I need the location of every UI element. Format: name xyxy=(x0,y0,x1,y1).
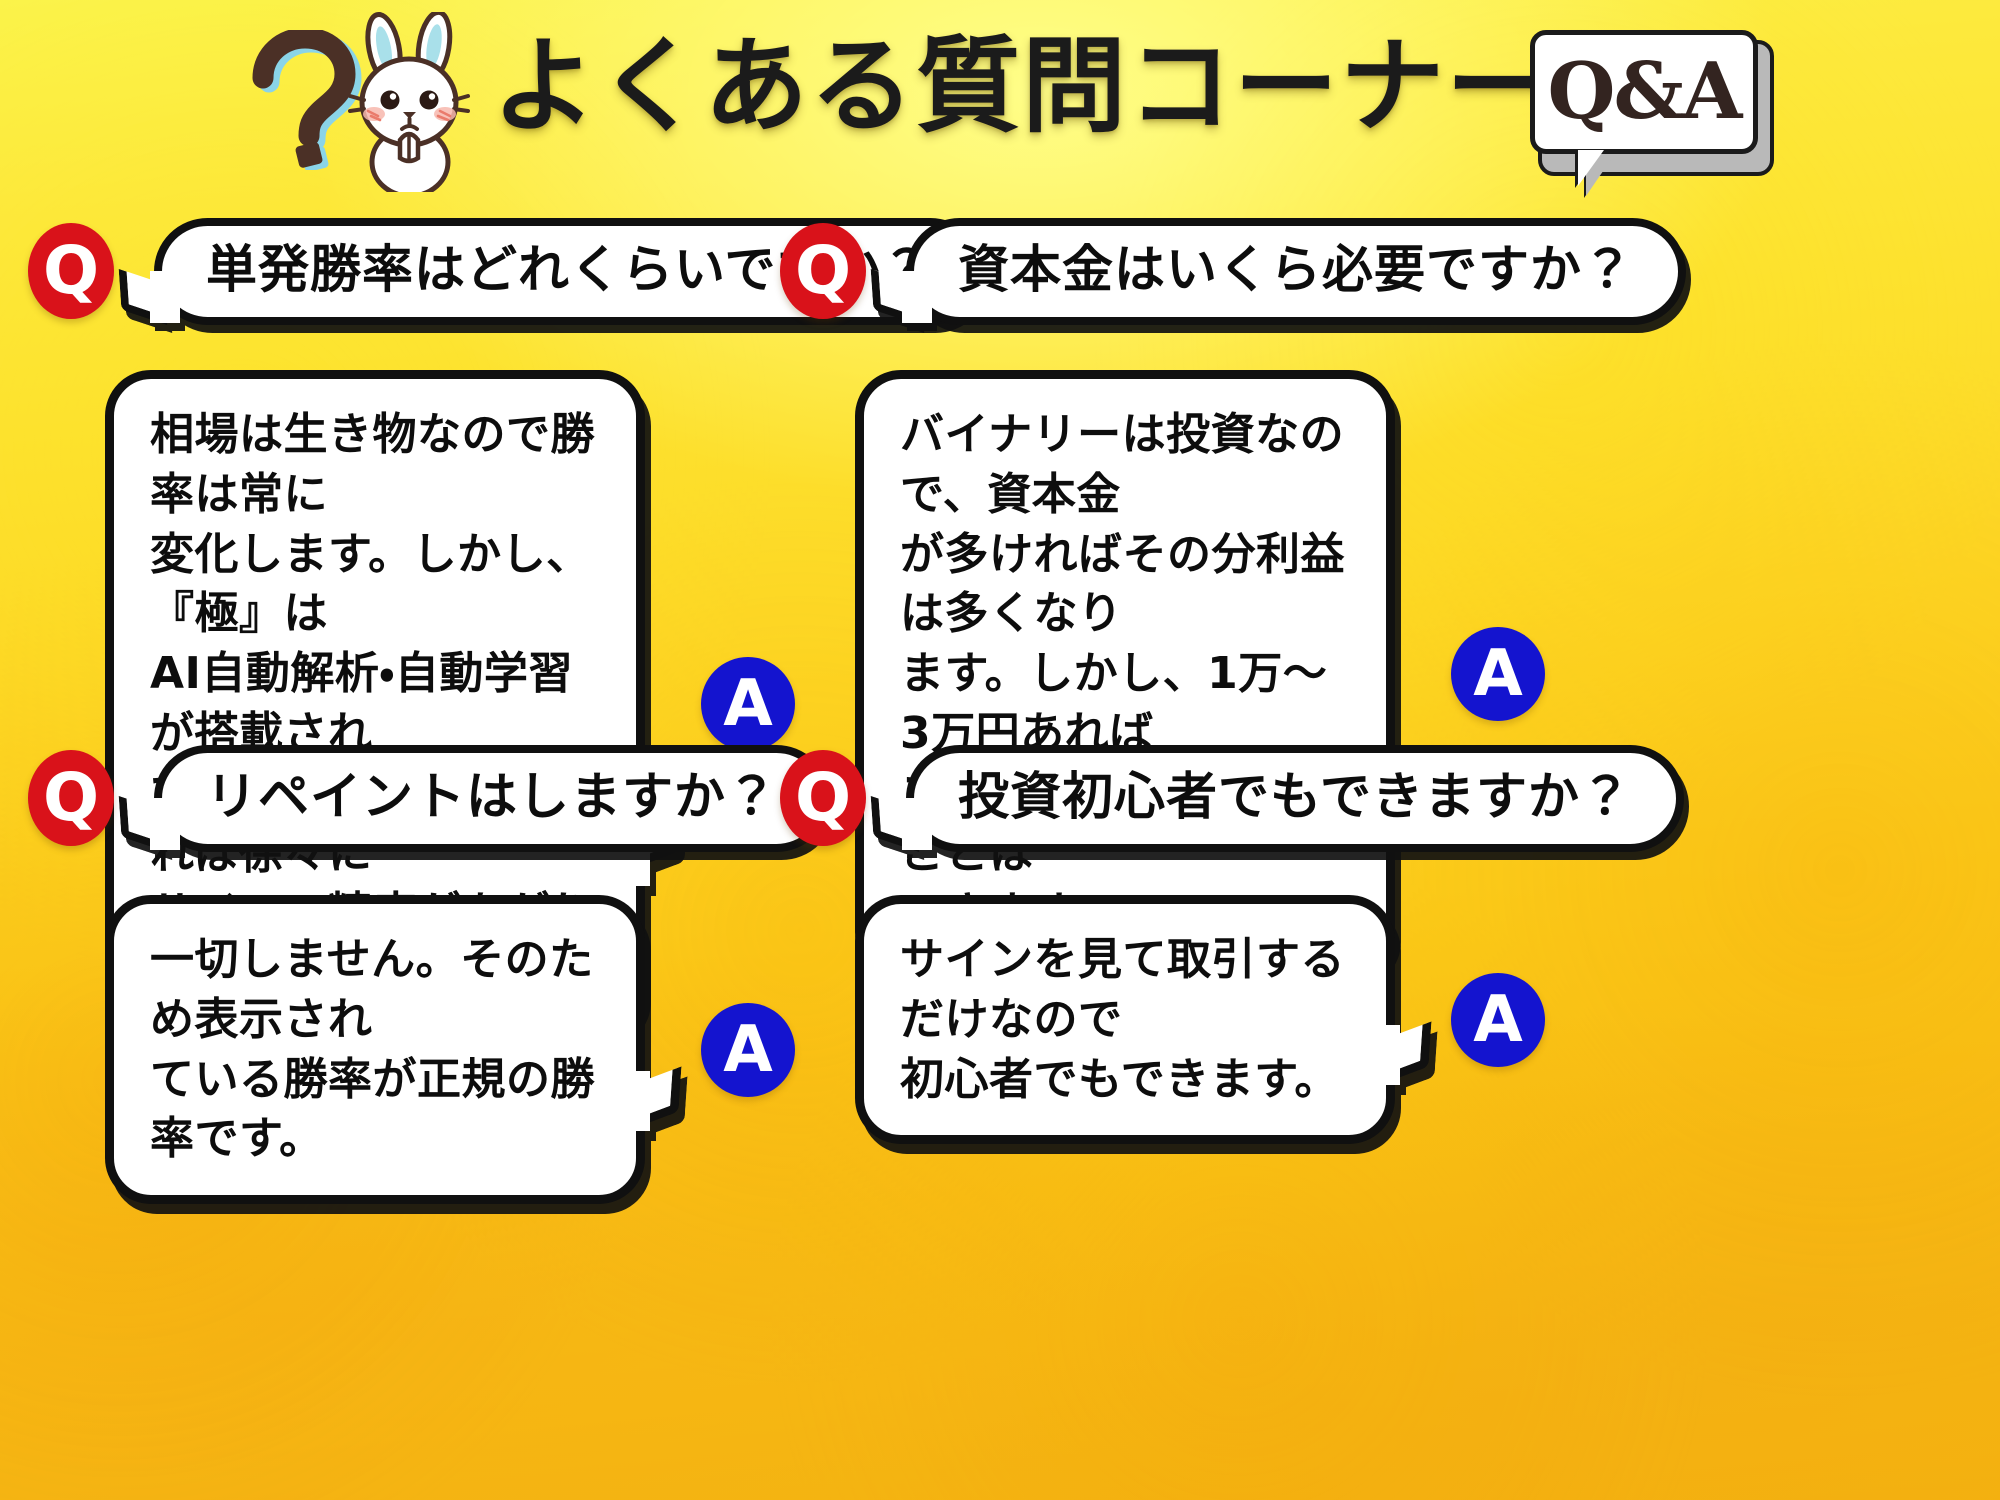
question-text-3: リペイントはしますか？ xyxy=(206,769,778,828)
q-badge-3: Q xyxy=(28,750,114,846)
q-badge-4: Q xyxy=(780,750,866,846)
q-badge-1: Q xyxy=(28,223,114,319)
page-header: よくある質問コーナー Q&A xyxy=(0,0,2000,200)
answer-row-2: バイナリーは投資なので、資本金 が多ければその分利益は多くなり ます。しかし、1… xyxy=(855,370,1545,978)
faq-poster: よくある質問コーナー Q&A Q 単発勝率はどれくらいですか？ 相場は生き物なの… xyxy=(0,0,2000,1500)
rabbit-mascot-icon xyxy=(330,12,490,192)
question-bubble-2[interactable]: 資本金はいくら必要ですか？ xyxy=(906,218,1686,325)
q-badge-2: Q xyxy=(780,223,866,319)
a-badge-3: A xyxy=(701,1003,795,1097)
question-bubble-3[interactable]: リペイントはしますか？ xyxy=(154,745,830,852)
answer-bubble-4[interactable]: サインを見て取引するだけなので 初心者でもできます。 xyxy=(855,895,1395,1144)
qa-badge-label: Q&A xyxy=(1548,53,1741,131)
question-row-3: Q リペイントはしますか？ xyxy=(28,745,830,852)
a-badge-2: A xyxy=(1451,627,1545,721)
answer-bubble-3[interactable]: 一切しません。そのため表示され ている勝率が正規の勝率です。 xyxy=(105,895,645,1204)
qa-badge-tail xyxy=(1578,150,1604,186)
question-bubble-4[interactable]: 投資初心者でもできますか？ xyxy=(906,745,1684,852)
question-text-2: 資本金はいくら必要ですか？ xyxy=(958,242,1634,301)
question-row-4: Q 投資初心者でもできますか？ xyxy=(780,745,1684,852)
answer-text-2: バイナリーは投資なので、資本金 が多ければその分利益は多くなり ます。しかし、1… xyxy=(900,409,1345,939)
qa-badge: Q&A xyxy=(1530,30,1766,170)
answer-text-4: サインを見て取引するだけなので 初心者でもできます。 xyxy=(900,934,1345,1105)
answer-row-4: サインを見て取引するだけなので 初心者でもできます。 A xyxy=(855,895,1545,1144)
question-text-4: 投資初心者でもできますか？ xyxy=(958,769,1632,828)
a-badge-4: A xyxy=(1451,973,1545,1067)
a-badge-1: A xyxy=(701,657,795,751)
answer-text-3: 一切しません。そのため表示され ている勝率が正規の勝率です。 xyxy=(150,934,595,1164)
question-row-2: Q 資本金はいくら必要ですか？ xyxy=(780,218,1686,325)
answer-row-3: 一切しません。そのため表示され ている勝率が正規の勝率です。 A xyxy=(105,895,795,1204)
qa-badge-box: Q&A xyxy=(1530,30,1758,154)
answer-bubble-2[interactable]: バイナリーは投資なので、資本金 が多ければその分利益は多くなり ます。しかし、1… xyxy=(855,370,1395,978)
page-title: よくある質問コーナー xyxy=(492,34,1552,138)
